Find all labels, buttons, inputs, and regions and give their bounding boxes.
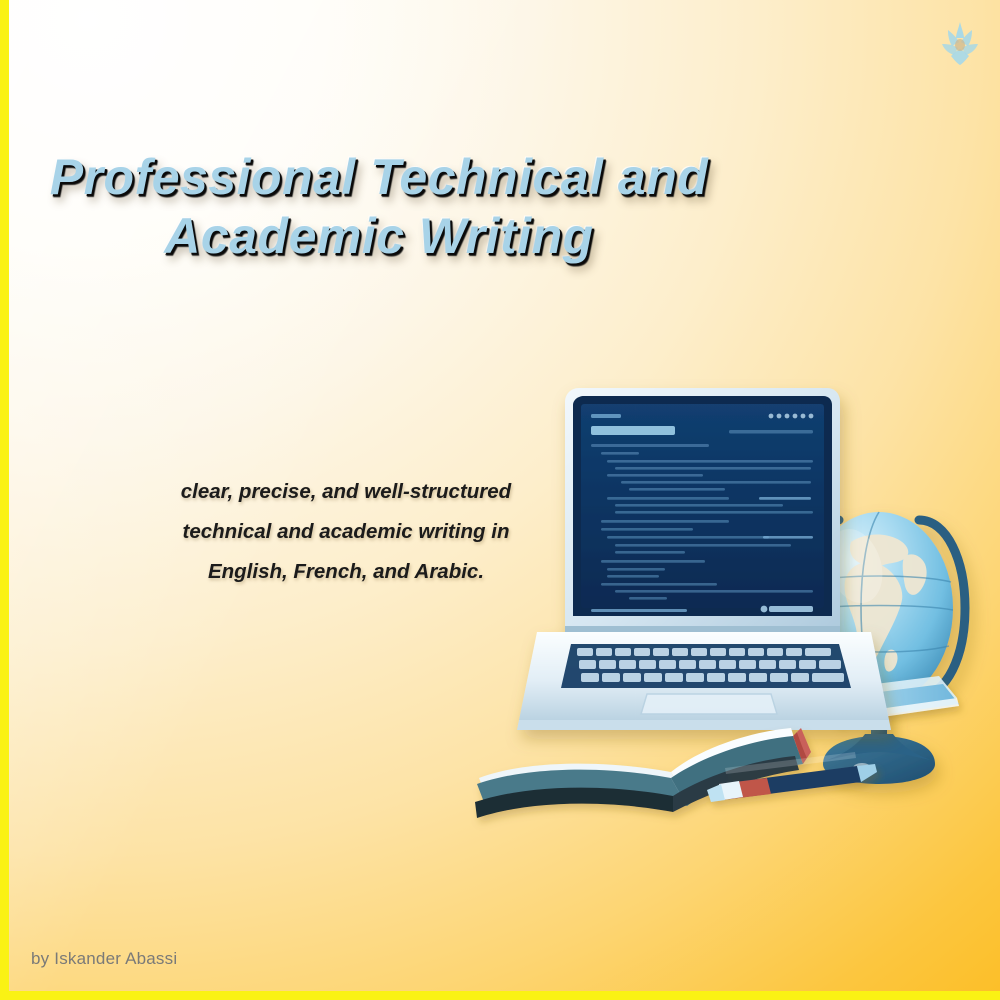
open-book-illustration [475,728,811,818]
illustration-group [419,360,999,860]
poster-canvas: Professional Technical and Academic Writ… [0,0,1000,1000]
byline: by Iskander Abassi [31,949,177,969]
lotus-flower-logo [938,18,982,68]
laptop-illustration [517,388,891,730]
